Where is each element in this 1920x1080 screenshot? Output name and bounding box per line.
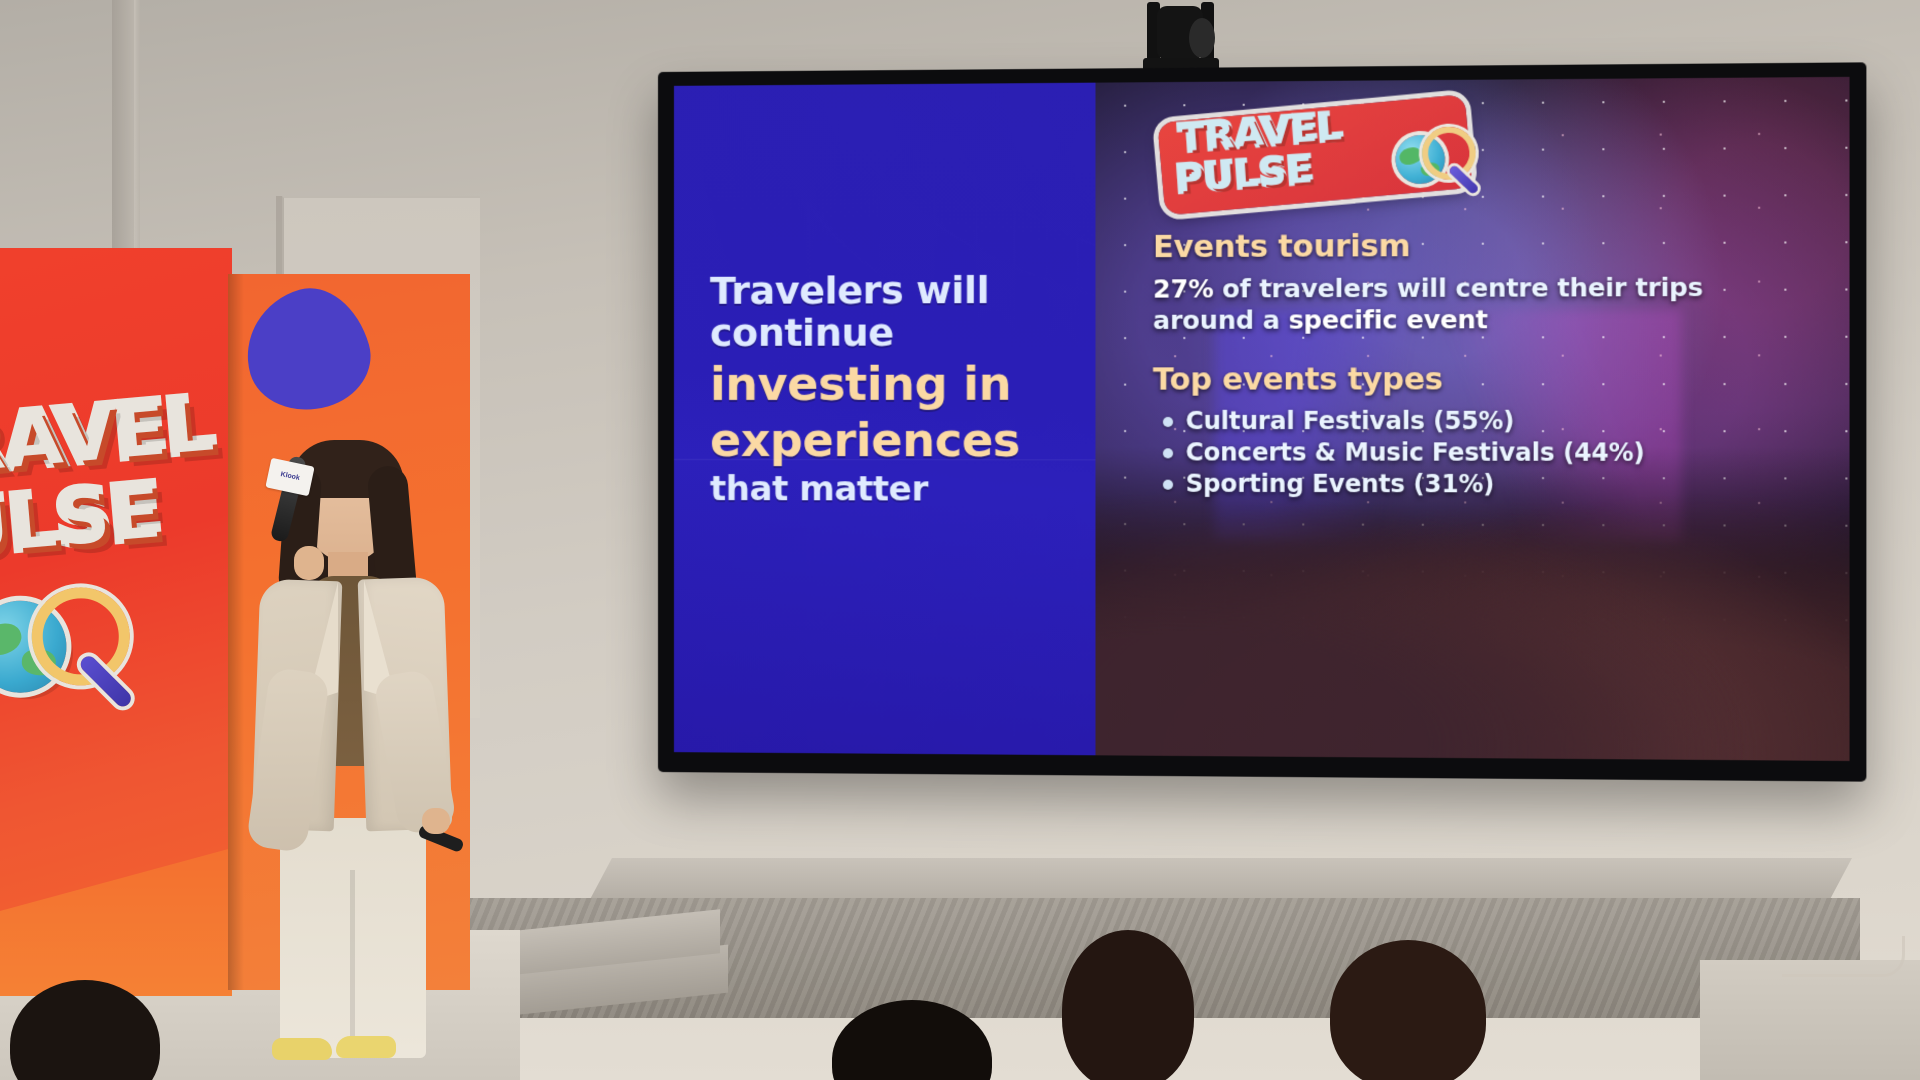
stat-emphasis: specific event [1288,305,1487,335]
top-events-heading: Top events types [1153,361,1850,397]
top-events-list: Cultural Festivals (55%) Concerts & Musi… [1151,406,1850,502]
headline-line-3: investing in [710,358,1020,410]
travel-pulse-logo: TRAVEL PULSE [1158,88,1505,223]
presenter-shoe-right [336,1036,396,1058]
camera-lens-icon [1189,18,1215,58]
slide: Travelers will continue investing in exp… [674,77,1850,761]
backdrop-travel-pulse-logo: TRAVEL PULSE [0,386,244,664]
list-item: Sporting Events (31%) [1186,469,1850,502]
headline-line-5: that matter [710,470,1020,509]
headline-line-2: continue [710,312,1020,355]
events-tourism-body: 27% of travelers will centre their trips… [1153,271,1795,336]
slide-content: TRAVEL PULSE Events tourism 27% of trave… [1096,77,1850,502]
floor-right [1700,960,1920,1080]
presenter: Klook [250,440,480,1060]
slide-headline: Travelers will continue investing in exp… [674,269,1051,570]
list-item: Cultural Festivals (55%) [1186,406,1850,438]
headline-line-1: Travelers will [710,269,1020,313]
audience-head [1330,940,1486,1080]
presenter-hand-left [294,546,324,580]
presenter-shoe-left [272,1038,332,1060]
camera-head [1157,6,1203,60]
presentation-scene: Travelers will continue investing in exp… [0,0,1920,1080]
led-screen[interactable]: Travelers will continue investing in exp… [658,62,1866,781]
floor-cable [1782,936,1905,977]
audience-head [1062,930,1194,1080]
events-tourism-heading: Events tourism [1153,227,1850,265]
slide-right-panel: TRAVEL PULSE Events tourism 27% of trave… [1096,77,1850,761]
backdrop-logo-line-2: PULSE [0,474,164,571]
headline-line-4: experiences [710,414,1020,466]
list-item: Concerts & Music Festivals (44%) [1186,437,1850,469]
slide-left-panel: Travelers will continue investing in exp… [674,83,1096,756]
presenter-hand-right [422,808,450,834]
stat-27: 27% [1153,274,1214,304]
presenter-trouser-seam [350,870,355,1056]
